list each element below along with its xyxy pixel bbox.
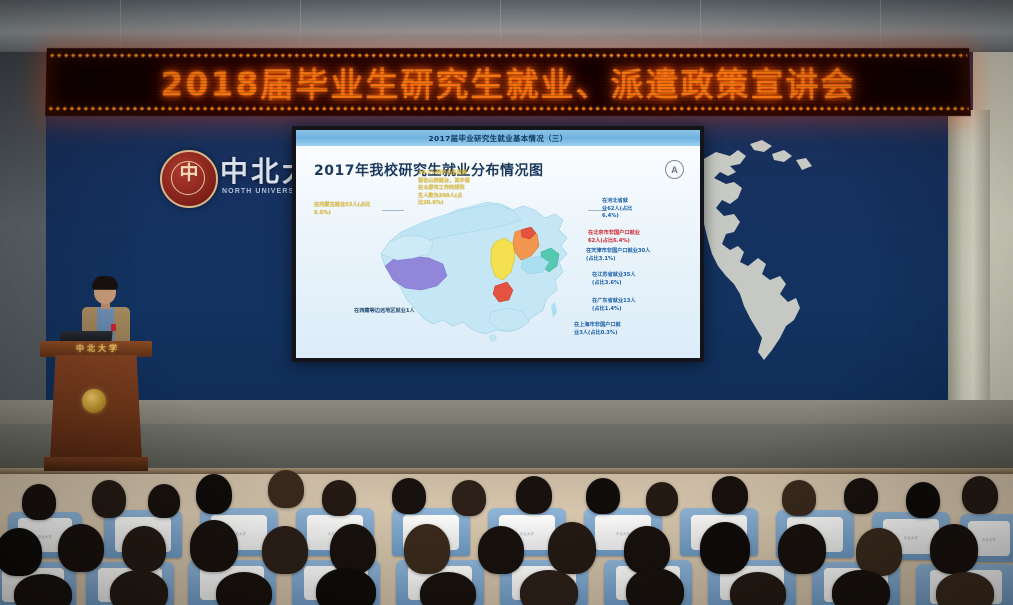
podium: 中北大学 — [44, 341, 148, 471]
audience-head — [452, 480, 486, 516]
audience-head — [712, 476, 748, 514]
audience-head — [92, 480, 126, 518]
led-banner: 2018届毕业生研究生就业、派遣政策宣讲会 — [45, 48, 971, 116]
audience-head — [322, 480, 356, 516]
speaker-hair — [92, 276, 118, 290]
audience-head — [58, 524, 104, 572]
slide-badge-icon: A — [665, 160, 684, 179]
led-banner-text: 2018届毕业生研究生就业、派遣政策宣讲会 — [57, 59, 958, 105]
audience-head — [778, 524, 826, 574]
annotation-hebei: 在河北省就 业62人(占比 6.4%) — [602, 198, 666, 221]
university-seal-icon: 中 — [160, 150, 218, 208]
slide-header-bar: 2017届毕业研究生就业基本情况（三） — [296, 130, 700, 146]
audience-head — [392, 478, 426, 514]
annotation-guangdong: 在广东省就业13人 (占比1.4%) — [592, 298, 674, 313]
slide-header-text: 2017届毕业研究生就业基本情况（三） — [428, 133, 567, 144]
audience-head — [906, 482, 940, 518]
annotation-shanxi-summary: 30.2%的毕业生选择 留在山西就业，其中留 在太原市工作的研究 生人数为200… — [418, 170, 496, 208]
americas-map-decal — [700, 138, 880, 368]
lecture-hall-photo: 中 中北大学 NORTH UNIVERSITY OF CHINA 2018届毕业… — [0, 0, 1013, 605]
annotation-tibet-remote: 在西藏等边远地区就业1人 — [354, 308, 484, 316]
audience-head — [516, 476, 552, 514]
slide-body: 2017年我校研究生就业分布情况图 A — [296, 146, 700, 358]
projection-screen-frame: 2017届毕业研究生就业基本情况（三） 2017年我校研究生就业分布情况图 A — [292, 126, 704, 362]
annotation-inner-mongolia: 在内蒙古就业53人(占比 5.5%) — [314, 202, 388, 217]
audience-head — [700, 522, 750, 574]
glasses-icon — [95, 289, 115, 294]
audience-head — [22, 484, 56, 520]
annotation-shanghai: 在上海市非国户口就 业3人(占比0.3%) — [574, 322, 660, 337]
annotation-jiangsu: 在江苏省就业35人 (占比3.6%) — [592, 272, 674, 287]
projected-slide: 2017届毕业研究生就业基本情况（三） 2017年我校研究生就业分布情况图 A — [296, 130, 700, 358]
annotation-tianjin: 在天津市非国户口就业30人 (占比3.1%) — [586, 248, 690, 263]
audience-head — [268, 470, 304, 508]
audience-area: 中北大学 中北大学 中北大学 中北大学 中北大学 中北大学 中北大学 中北大学 … — [0, 466, 1013, 605]
audience-head — [930, 524, 978, 574]
audience-head — [478, 526, 524, 574]
led-dot-row-bottom — [47, 105, 969, 112]
audience-head — [962, 476, 998, 514]
wall-pillar-right — [948, 110, 990, 410]
audience-head — [0, 528, 42, 576]
audience-head — [782, 480, 816, 516]
audience-head — [148, 484, 180, 518]
audience-head — [844, 478, 878, 514]
national-emblem-icon — [82, 389, 106, 413]
audience-head — [586, 478, 620, 514]
audience-head — [404, 524, 450, 574]
seal-glyph: 中 — [162, 158, 216, 185]
podium-label: 中北大学 — [58, 343, 138, 354]
speaker-badge — [111, 324, 116, 331]
audience-head — [330, 524, 376, 574]
annotation-beijing: 在北京市非国户口就业 62人(占比6.4%) — [588, 230, 684, 245]
audience-head — [262, 526, 308, 574]
audience-head — [856, 528, 902, 576]
audience-head — [190, 520, 238, 572]
audience-head — [196, 474, 232, 514]
audience-head — [548, 522, 596, 574]
audience-head — [624, 526, 670, 574]
audience-head — [646, 482, 678, 516]
audience-head — [122, 526, 166, 572]
